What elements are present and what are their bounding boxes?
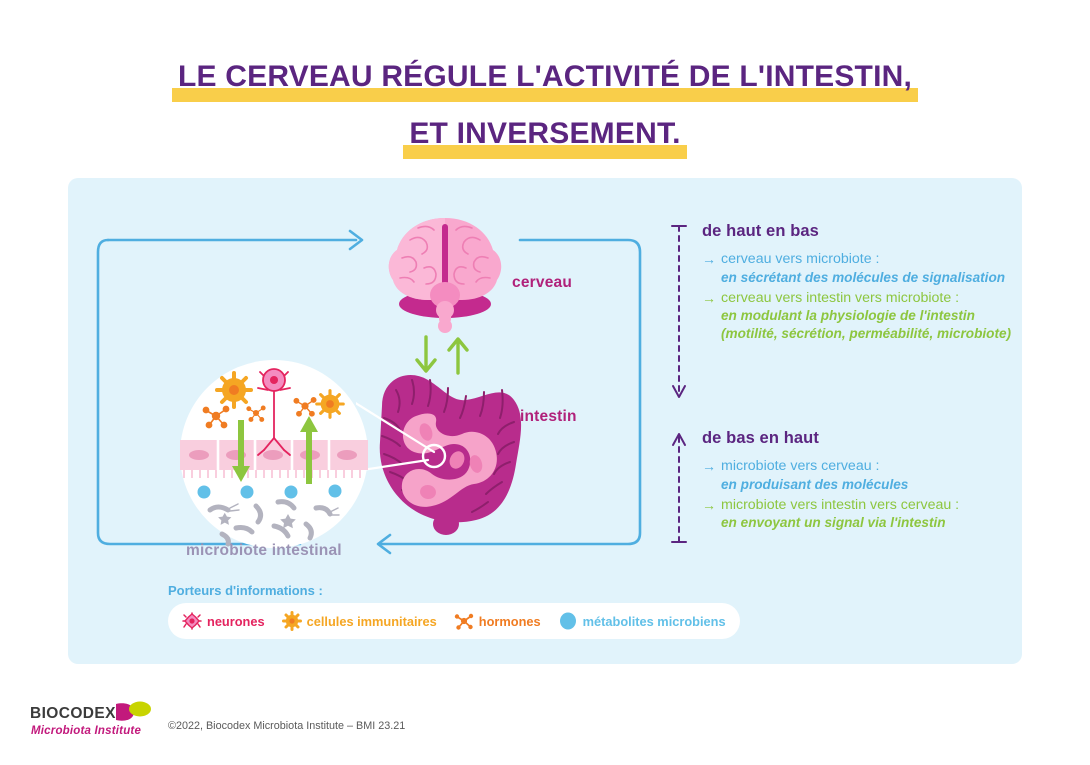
intestine-label: intestin [520, 408, 577, 426]
footer: BIOCODEX Microbiota Institute ©2022, Bio… [30, 700, 405, 742]
downward-axis-icon [668, 222, 690, 407]
copyright-text: ©2022, Biocodex Microbiota Institute – B… [168, 720, 405, 732]
logo-brand-sub: Microbiota Institute [31, 724, 141, 738]
bullet-item: → cerveau vers intestin vers microbiote … [702, 289, 1016, 344]
bullet-item: → cerveau vers microbiote : en sécrétant… [702, 250, 1016, 287]
bullet-subtitle: en sécrétant des molécules de signalisat… [721, 269, 1016, 287]
microbiota-detail-circle [178, 358, 370, 550]
bullet-title: microbiote vers intestin vers cerveau : [721, 496, 1016, 515]
microbiota-label: microbiote intestinal [186, 542, 342, 560]
legend-item-metabolites-microbiens: métabolites microbiens [558, 611, 726, 631]
legend-title: Porteurs d'informations : [168, 583, 323, 598]
section-heading: de bas en haut [702, 429, 1016, 448]
upward-axis-icon [668, 429, 690, 549]
legend-label: métabolites microbiens [583, 614, 726, 629]
logo-brand: BIOCODEX [30, 706, 116, 722]
bullet-subtitle: en envoyant un signal via l'intestin [721, 514, 1016, 532]
intestine-illustration [356, 360, 536, 535]
legend-item-neurones: neurones [182, 611, 265, 631]
legend-item-hormones: hormones [454, 611, 541, 631]
arrow-right-icon: → [702, 457, 716, 475]
brain-label: cerveau [512, 274, 572, 292]
arrow-right-icon: → [702, 250, 716, 268]
arrow-right-icon: → [702, 496, 716, 514]
legend-item-cellules-immunitaires: cellules immunitaires [282, 611, 437, 631]
explanation-column: de haut en bas → cerveau vers microbiote… [668, 222, 1016, 549]
section-bottom-up: de bas en haut → microbiote vers cerveau… [668, 429, 1016, 549]
title-line-2-text: ET INVERSEMENT. [403, 109, 686, 159]
title-line-2: ET INVERSEMENT. [0, 109, 1090, 164]
bullet-title: cerveau vers intestin vers microbiote : [721, 289, 1016, 308]
infographic-panel: cerveau [68, 178, 1022, 664]
legend-label: cellules immunitaires [307, 614, 437, 629]
biocodex-logo: BIOCODEX Microbiota Institute [30, 700, 154, 742]
bullet-title: cerveau vers microbiote : [721, 250, 1016, 269]
neuron-icon [182, 611, 202, 631]
section-heading: de haut en bas [702, 222, 1016, 241]
bullet-subtitle: en produisant des molécules [721, 476, 1016, 494]
legend-label: hormones [479, 614, 541, 629]
title-line-1-text: LE CERVEAU RÉGULE L'ACTIVITÉ DE L'INTEST… [172, 52, 918, 102]
legend-bar: neurones cellules immunitaires [168, 603, 740, 639]
immune-cell-icon [282, 611, 302, 631]
legend-label: neurones [207, 614, 265, 629]
metabolite-icon [558, 611, 578, 631]
bullet-subtitle: en modulant la physiologie de l'intestin… [721, 307, 1016, 343]
bullet-title: microbiote vers cerveau : [721, 457, 1016, 476]
bullet-item: → microbiote vers cerveau : en produisan… [702, 457, 1016, 494]
title-line-1: LE CERVEAU RÉGULE L'ACTIVITÉ DE L'INTEST… [0, 52, 1090, 107]
hormone-icon [454, 611, 474, 631]
section-top-down: de haut en bas → cerveau vers microbiote… [668, 222, 1016, 407]
brain-illustration [380, 212, 510, 337]
page-title: LE CERVEAU RÉGULE L'ACTIVITÉ DE L'INTEST… [0, 52, 1090, 166]
arrow-right-icon: → [702, 289, 716, 307]
bullet-item: → microbiote vers intestin vers cerveau … [702, 496, 1016, 533]
